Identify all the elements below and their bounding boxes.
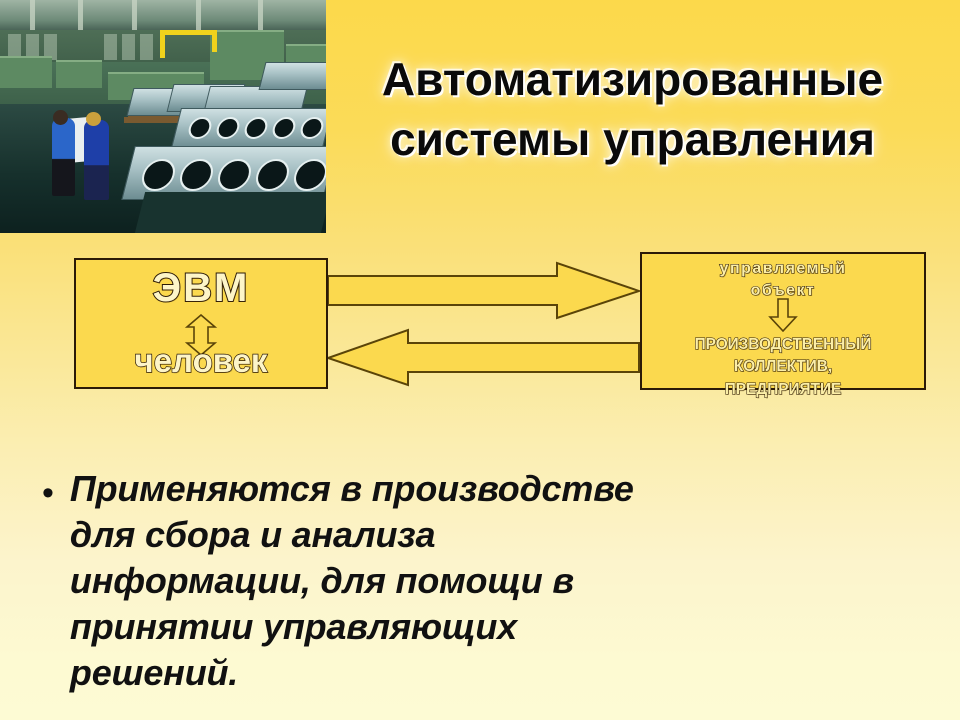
photo-cylinder-bore xyxy=(270,117,297,139)
slide-title: Автоматизированные системы управления xyxy=(320,50,945,170)
label-production-collective-line-2: ПРЕДПРИЯТИЕ xyxy=(648,379,919,401)
label-controlled-object: управляемый объект xyxy=(642,258,924,301)
photo-crane-mast xyxy=(160,30,165,58)
label-evm: ЭВМ xyxy=(76,266,326,311)
photo-cylinder-bore xyxy=(214,117,241,139)
photo-cylinder-bore xyxy=(139,159,179,191)
down-arrow-icon xyxy=(768,298,798,332)
photo-worker xyxy=(52,118,75,196)
photo-worker xyxy=(84,120,109,200)
label-production-collective: ПРОИЗВОДСТВЕННЫЙ КОЛЛЕКТИВ, ПРЕДПРИЯТИЕ xyxy=(648,334,919,401)
photo-window xyxy=(122,34,135,60)
factory-floor-photo xyxy=(0,0,326,233)
slide-title-line-2: системы управления xyxy=(320,110,945,170)
photo-beam xyxy=(132,0,137,34)
photo-engine-block xyxy=(171,108,326,148)
photo-cylinder-bore xyxy=(242,117,269,139)
photo-engine-block xyxy=(135,192,326,233)
label-controlled-object-line-1: управляемый xyxy=(642,258,924,280)
photo-window xyxy=(140,34,153,60)
photo-worker-head xyxy=(86,112,101,126)
label-production-collective-line-1: ПРОИЗВОДСТВЕННЫЙ КОЛЛЕКТИВ, xyxy=(648,334,919,379)
label-chelovek: человек xyxy=(76,342,326,380)
arrow-right-to-left-icon xyxy=(328,330,639,385)
photo-ceiling xyxy=(0,0,326,34)
photo-worker-head xyxy=(53,110,68,125)
photo-window xyxy=(104,34,117,60)
photo-beam xyxy=(78,0,83,34)
bullet-marker: • xyxy=(42,466,54,696)
photo-engine-block xyxy=(259,62,326,90)
body-bullet-list: • Применяются в производстве для сбора и… xyxy=(42,466,922,696)
photo-crane-boom xyxy=(162,30,216,35)
photo-cylinder-bore xyxy=(177,159,217,191)
photo-cylinder-bore xyxy=(215,159,255,191)
photo-machine xyxy=(56,60,102,88)
slide-canvas: Автоматизированные системы управления ЭВ… xyxy=(0,0,960,720)
photo-machine xyxy=(0,56,52,88)
arrow-left-to-right-icon xyxy=(328,263,639,318)
photo-beam xyxy=(196,0,201,34)
photo-beam xyxy=(258,0,263,34)
photo-cylinder-bore xyxy=(186,117,213,139)
bullet-text: Применяются в производстве для сбора и а… xyxy=(70,466,680,696)
diagram-box-controlled-object: управляемый объект ПРОИЗВОДСТВЕННЫЙ КОЛЛ… xyxy=(640,252,926,390)
photo-cylinder-bore xyxy=(253,159,293,191)
photo-beam xyxy=(30,0,35,34)
diagram-box-computer-human: ЭВМ человек xyxy=(74,258,328,389)
slide-title-line-1: Автоматизированные xyxy=(320,50,945,110)
photo-crane-mast xyxy=(212,30,217,52)
